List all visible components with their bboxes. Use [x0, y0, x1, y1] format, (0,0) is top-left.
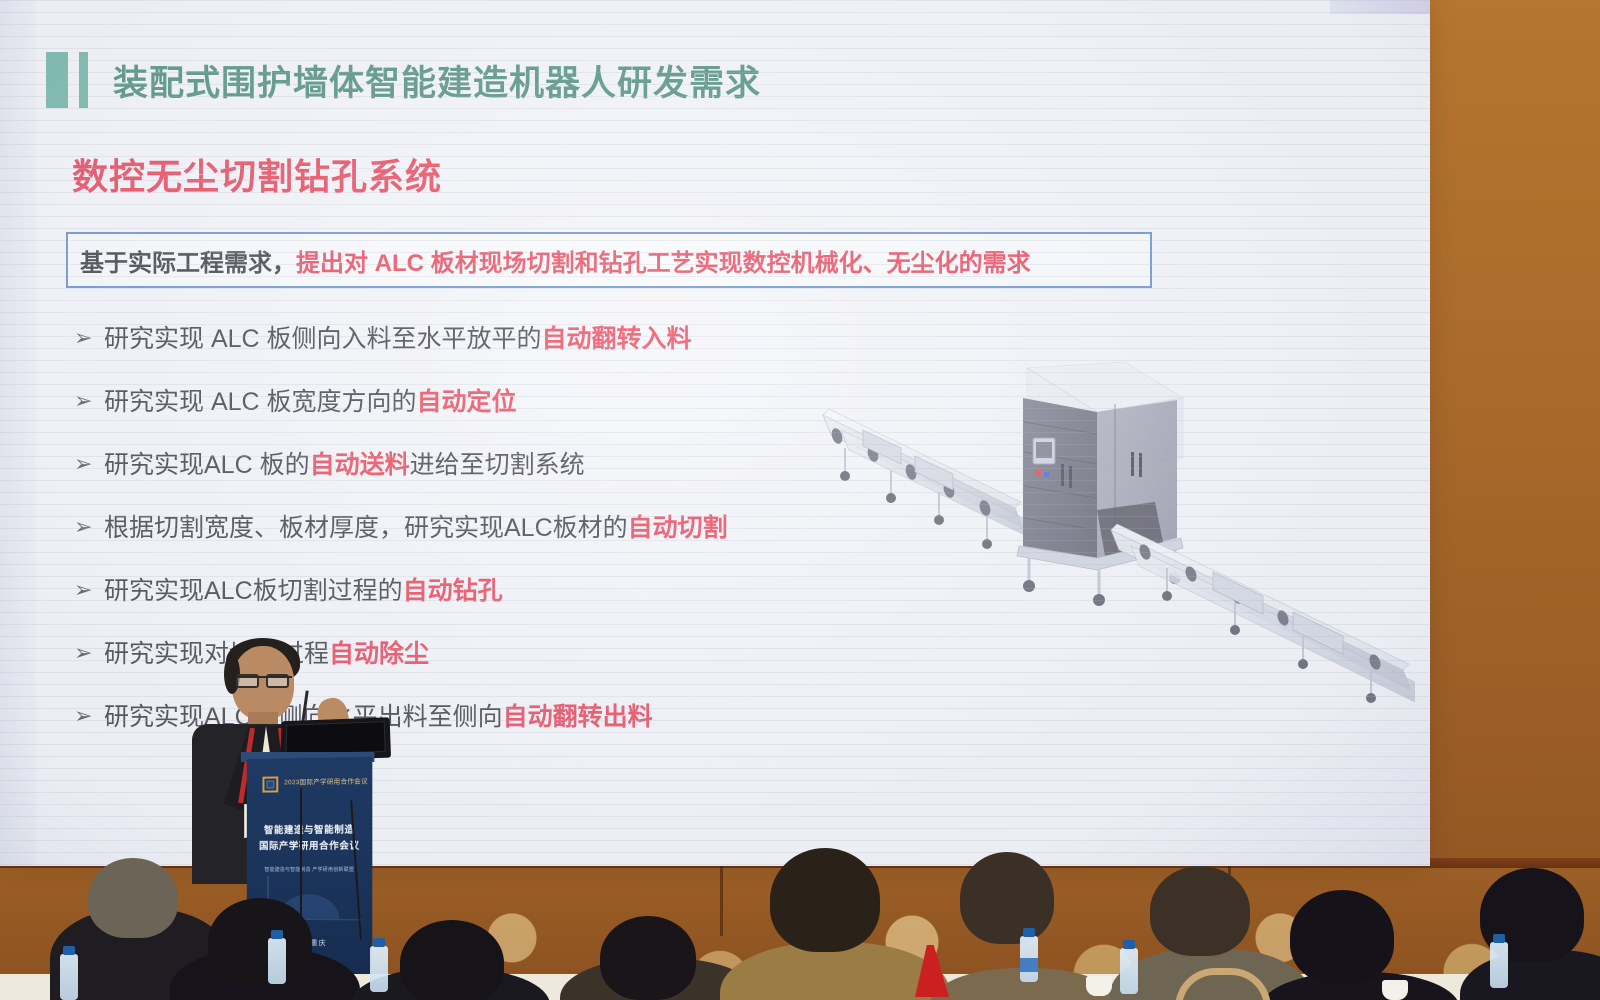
arrow-bullet-icon: ➢	[74, 385, 104, 419]
audience-head	[770, 848, 880, 952]
bottle-cap	[1493, 934, 1505, 943]
list-item: ➢ 研究实现ALC 板的自动送料进给至切割系统	[74, 448, 894, 511]
bottle-cap	[1023, 928, 1035, 937]
tea-cup	[1382, 980, 1408, 1000]
arrow-bullet-icon: ➢	[74, 511, 104, 545]
callout-emphasis-text: 提出对 ALC 板材现场切割和钻孔工艺实现数控机械化、无尘化的需求	[296, 243, 1031, 278]
list-item: ➢ 根据切割宽度、板材厚度，研究实现ALC板材的自动切割	[74, 511, 894, 574]
bottle-cap	[271, 930, 283, 939]
arrow-bullet-icon: ➢	[74, 574, 104, 608]
list-item-text: 研究实现ALC 板的自动送料进给至切割系统	[104, 448, 585, 482]
bottle-cap	[63, 946, 75, 955]
slide-header: 装配式围护墙体智能建造机器人研发需求	[46, 52, 761, 108]
audience-head	[1150, 866, 1250, 956]
slide-subtitle: 数控无尘切割钻孔系统	[72, 148, 442, 200]
machine-3d-illustration	[815, 360, 1415, 705]
arrow-bullet-icon: ➢	[74, 700, 104, 734]
water-bottle	[1490, 942, 1508, 988]
list-item-text: 研究实现ALC板切割过程的自动钻孔	[104, 574, 503, 608]
audience-seating	[0, 830, 1600, 1000]
header-accent-bar-thin	[79, 52, 88, 108]
bottle-cap	[1123, 940, 1135, 949]
audience-head	[600, 916, 696, 1000]
audience-head	[400, 920, 504, 1000]
audience-head	[960, 852, 1054, 944]
list-item: ➢ 研究实现 ALC 板侧向入料至水平放平的自动翻转入料	[74, 322, 894, 385]
header-accent-bar-wide	[46, 52, 68, 108]
arrow-bullet-icon: ➢	[74, 448, 104, 482]
tea-cup	[1086, 976, 1112, 996]
conference-room-photo: 装配式围护墙体智能建造机器人研发需求 数控无尘切割钻孔系统 基于实际工程需求， …	[0, 0, 1600, 1000]
podium-logo-inner-icon	[266, 781, 274, 789]
list-item: ➢ 研究实现 ALC 板宽度方向的自动定位	[74, 385, 894, 448]
arrow-bullet-icon: ➢	[74, 637, 104, 671]
water-bottle	[1120, 948, 1138, 994]
list-item-text: 研究实现 ALC 板宽度方向的自动定位	[104, 385, 517, 419]
water-bottle	[370, 946, 388, 992]
audience-head	[208, 898, 312, 986]
water-bottle	[60, 954, 78, 1000]
podium-event-tag: 2023国际产学研用合作会议	[284, 775, 368, 786]
audience-head	[1290, 890, 1394, 984]
callout-lead-text: 基于实际工程需求，	[80, 243, 296, 278]
glasses-bridge-icon	[236, 676, 292, 688]
water-bottle	[268, 938, 286, 984]
callout-box: 基于实际工程需求， 提出对 ALC 板材现场切割和钻孔工艺实现数控机械化、无尘化…	[66, 232, 1152, 288]
list-item-text: 根据切割宽度、板材厚度，研究实现ALC板材的自动切割	[104, 511, 728, 545]
arrow-bullet-icon: ➢	[74, 322, 104, 356]
page-title: 装配式围护墙体智能建造机器人研发需求	[113, 55, 761, 106]
bottle-label	[1020, 958, 1038, 972]
audience-head	[88, 858, 178, 938]
laptop-screen	[285, 721, 385, 755]
list-item-text: 研究实现 ALC 板侧向入料至水平放平的自动翻转入料	[104, 322, 692, 356]
bottle-cap	[373, 938, 385, 947]
